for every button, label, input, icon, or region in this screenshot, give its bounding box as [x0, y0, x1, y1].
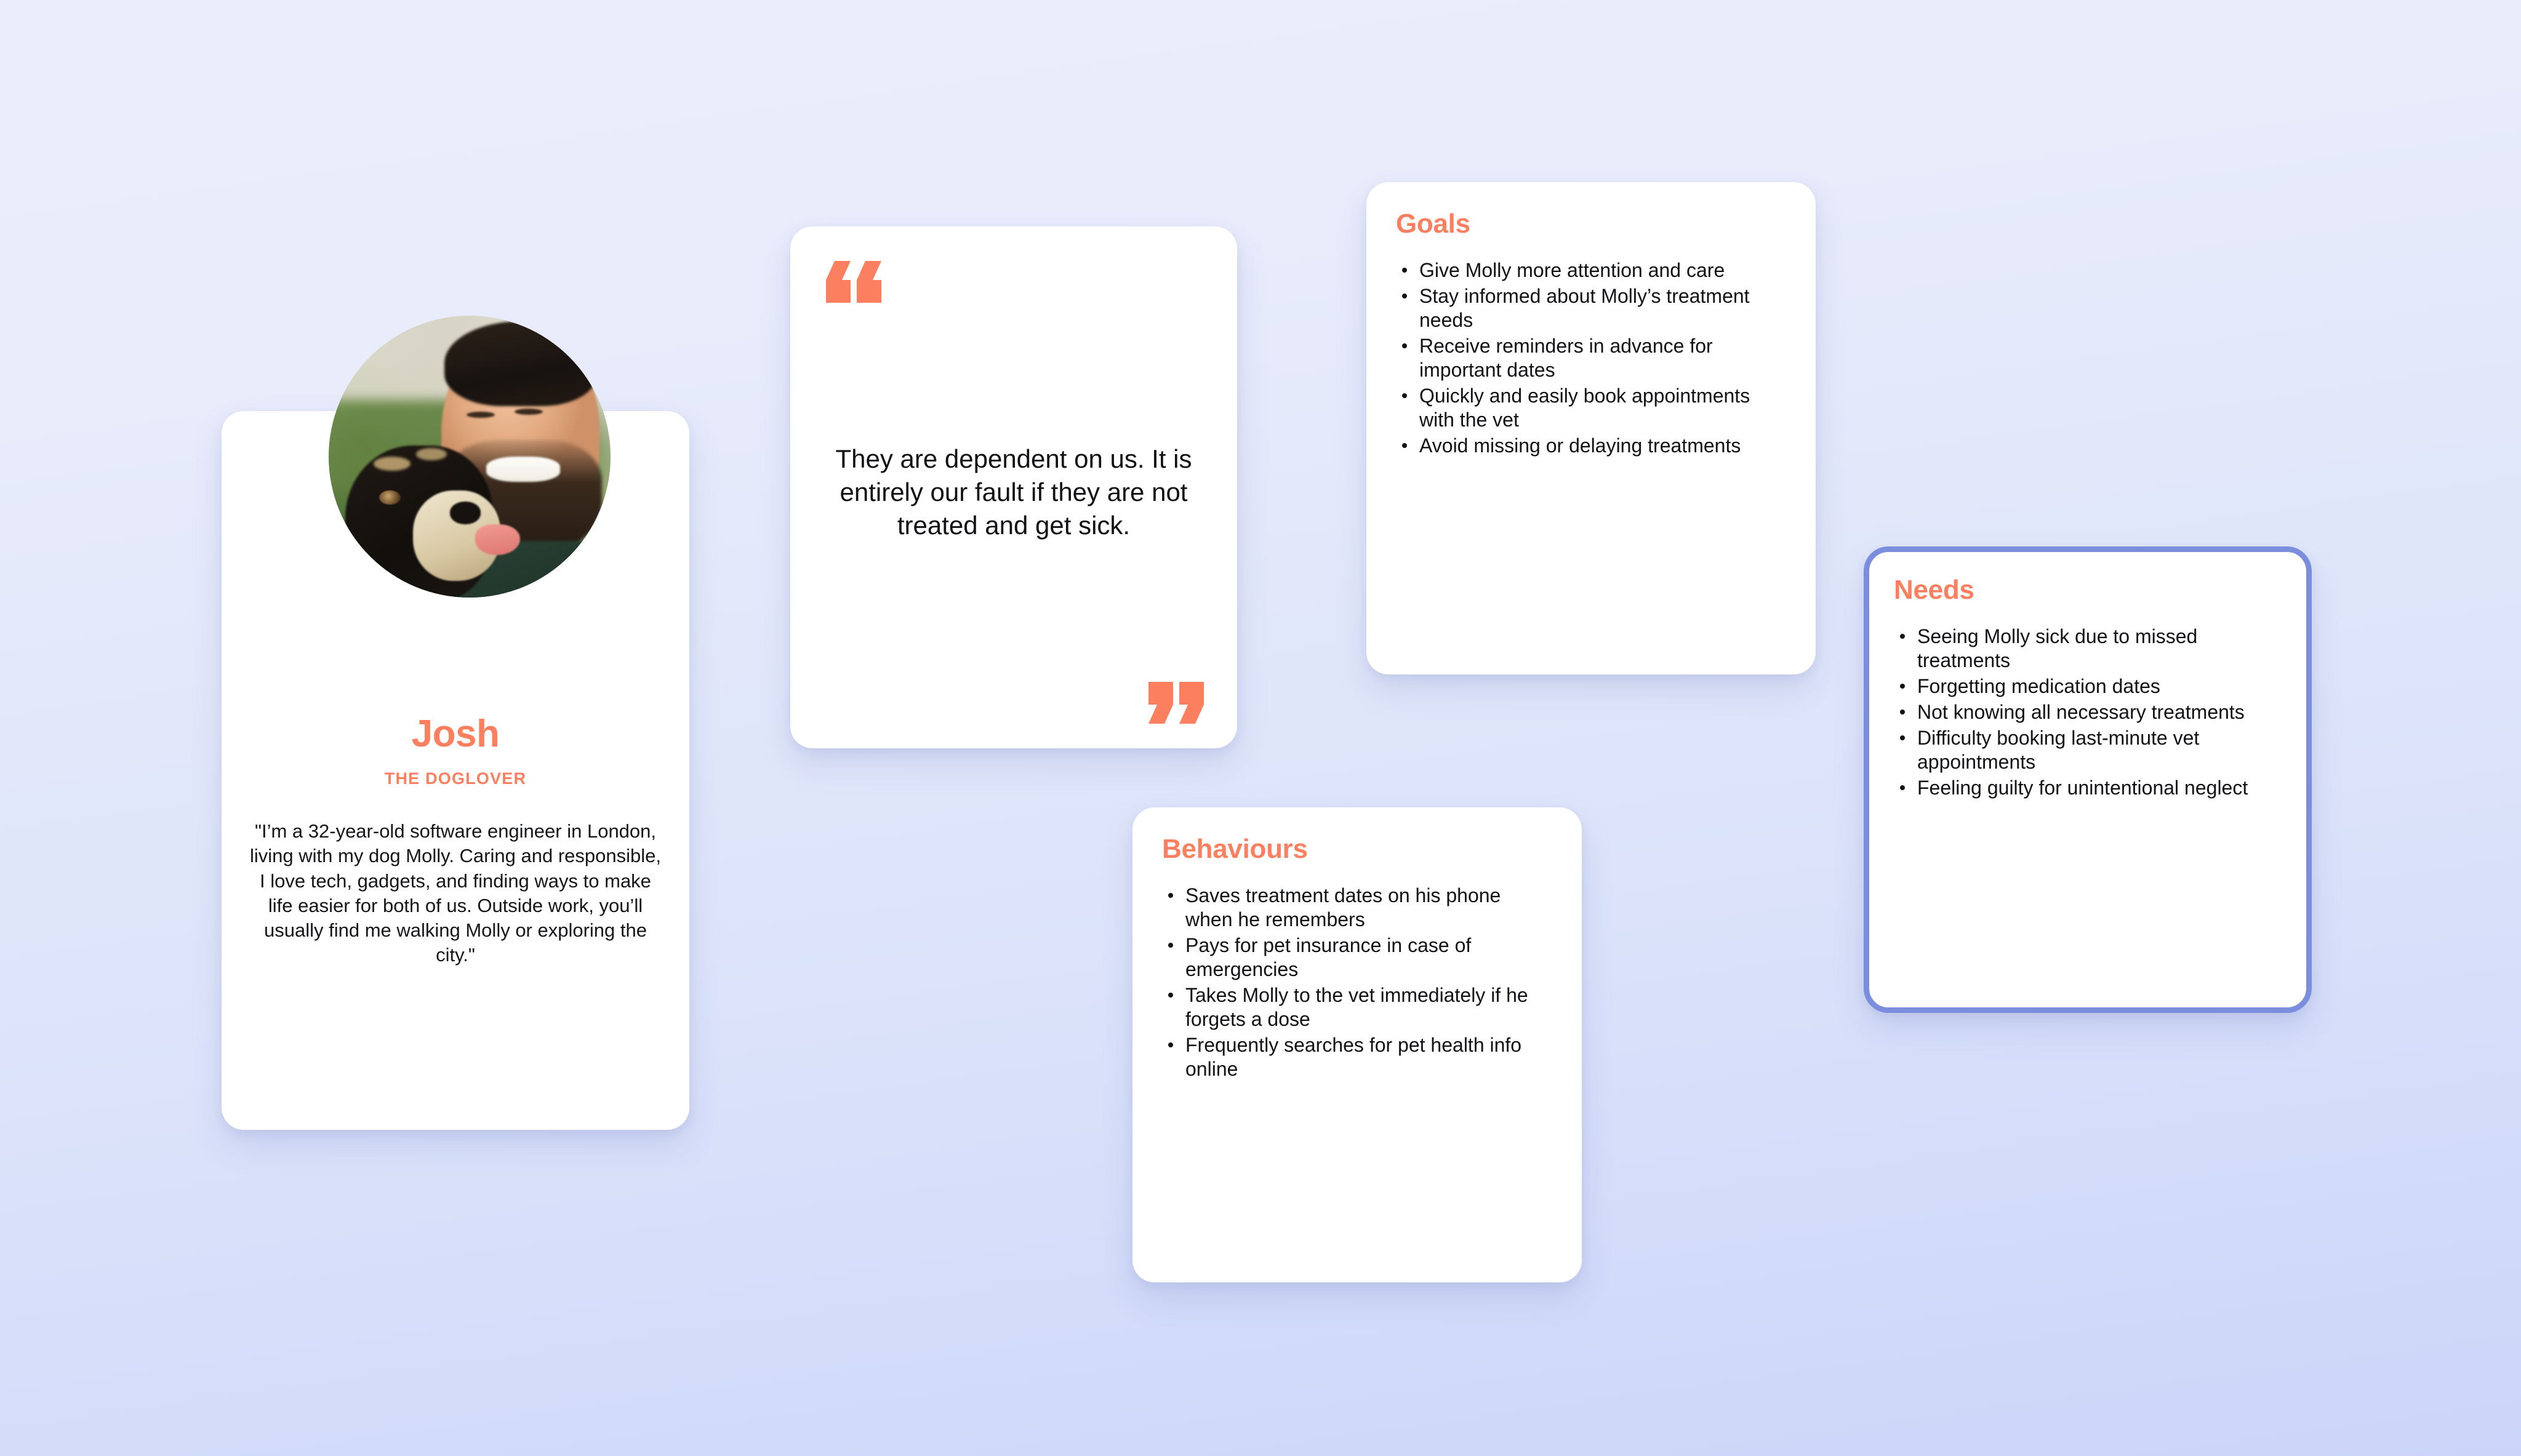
- list-item: Difficulty booking last-minute vet appoi…: [1894, 726, 2282, 774]
- open-quote-icon: [826, 261, 1206, 306]
- goals-title: Goals: [1396, 210, 1786, 238]
- needs-title: Needs: [1894, 577, 2282, 604]
- behaviours-title: Behaviours: [1162, 836, 1552, 863]
- quote-card: They are dependent on us. It is entirely…: [790, 226, 1237, 748]
- quote-text: They are dependent on us. It is entirely…: [821, 306, 1206, 679]
- persona-bio: "I’m a 32-year-old software engineer in …: [249, 819, 662, 968]
- avatar-photo: [329, 316, 611, 598]
- list-item: Forgetting medication dates: [1894, 674, 2282, 698]
- needs-card: Needs Seeing Molly sick due to missed tr…: [1864, 546, 2312, 1013]
- list-item: Avoid missing or delaying treatments: [1396, 434, 1786, 458]
- list-item: Pays for pet insurance in case of emerge…: [1162, 934, 1552, 982]
- goals-list: Give Molly more attention and careStay i…: [1396, 258, 1786, 458]
- list-item: Not knowing all necessary treatments: [1894, 700, 2282, 724]
- behaviours-card: Behaviours Saves treatment dates on his …: [1132, 807, 1582, 1282]
- persona-board: Josh THE DOGLOVER "I’m a 32-year-old sof…: [0, 0, 2521, 1456]
- list-item: Quickly and easily book appointments wit…: [1396, 384, 1786, 432]
- needs-list: Seeing Molly sick due to missed treatmen…: [1894, 625, 2282, 800]
- avatar: [329, 316, 611, 598]
- list-item: Give Molly more attention and care: [1396, 258, 1786, 282]
- behaviours-list: Saves treatment dates on his phone when …: [1162, 884, 1552, 1081]
- close-quote-icon: [1148, 679, 1204, 724]
- list-item: Stay informed about Molly’s treatment ne…: [1396, 284, 1786, 332]
- list-item: Seeing Molly sick due to missed treatmen…: [1894, 625, 2282, 673]
- persona-name: Josh: [412, 715, 500, 753]
- goals-card: Goals Give Molly more attention and care…: [1366, 182, 1816, 674]
- list-item: Receive reminders in advance for importa…: [1396, 334, 1786, 382]
- list-item: Frequently searches for pet health info …: [1162, 1033, 1552, 1081]
- list-item: Feeling guilty for unintentional neglect: [1894, 776, 2282, 800]
- persona-role: THE DOGLOVER: [385, 769, 526, 788]
- list-item: Saves treatment dates on his phone when …: [1162, 884, 1552, 932]
- list-item: Takes Molly to the vet immediately if he…: [1162, 983, 1552, 1031]
